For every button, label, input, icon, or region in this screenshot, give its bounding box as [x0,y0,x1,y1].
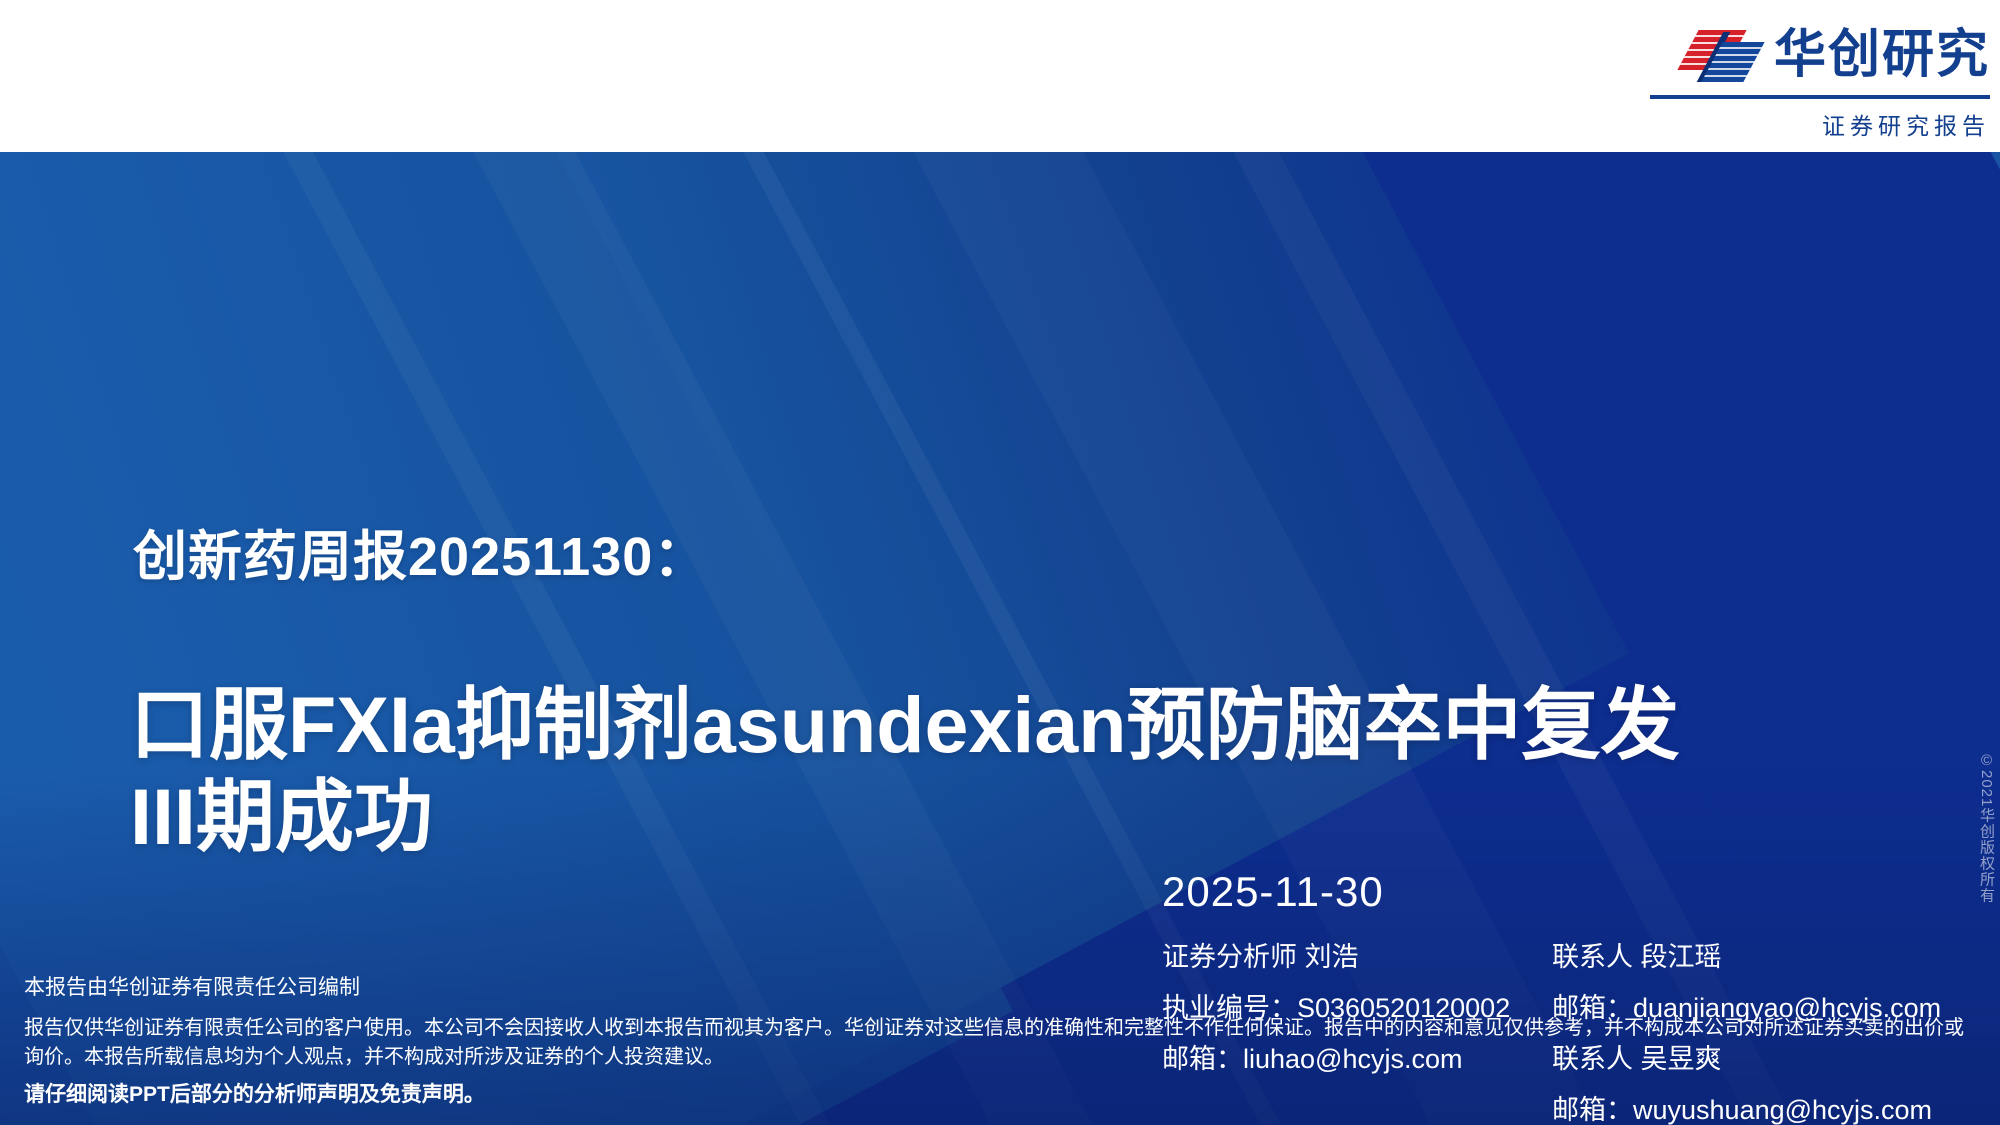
huachuang-cube-icon [1684,24,1760,86]
disclaimer-block: 本报告由华创证券有限责任公司编制 报告仅供华创证券有限责任公司的客户使用。本公司… [24,975,1970,1107]
disclaimer-body: 报告仅供华创证券有限责任公司的客户使用。本公司不会因接收人收到本报告而视其为客户… [24,1014,1970,1072]
slide-content: 创新药周报20251130： 口服FXIa抑制剂asundexian预防脑卒中复… [0,152,2000,1125]
brand-divider [1650,95,1990,99]
page-title: 口服FXIa抑制剂asundexian预防脑卒中复发III期成功 [130,679,1710,862]
brand-logo-row: 华创研究 [1684,24,1990,86]
brand-subtitle: 证券研究报告 [1822,107,1990,141]
title-slide: 创新药周报20251130： 口服FXIa抑制剂asundexian预防脑卒中复… [0,152,2000,1125]
slide-subtitle: 创新药周报20251130： [133,512,708,591]
brand-logo: 华创研究 证券研究报告 [1650,24,1990,141]
report-date: 2025-11-30 [1162,868,1384,916]
disclaimer-prepared-by: 本报告由华创证券有限责任公司编制 [24,975,1970,1000]
copyright-watermark: ©2021华创版权所有 [1976,752,1997,903]
disclaimer-warning: 请仔细阅读PPT后部分的分析师声明及免责声明。 [24,1082,1970,1107]
contact-name-1: 联系人 段江瑶 [1552,942,1941,973]
analyst-name: 证券分析师 刘浩 [1162,942,1510,973]
report-header-band: 华创研究 证券研究报告 [0,0,2000,152]
brand-name: 华创研究 [1774,29,1990,81]
